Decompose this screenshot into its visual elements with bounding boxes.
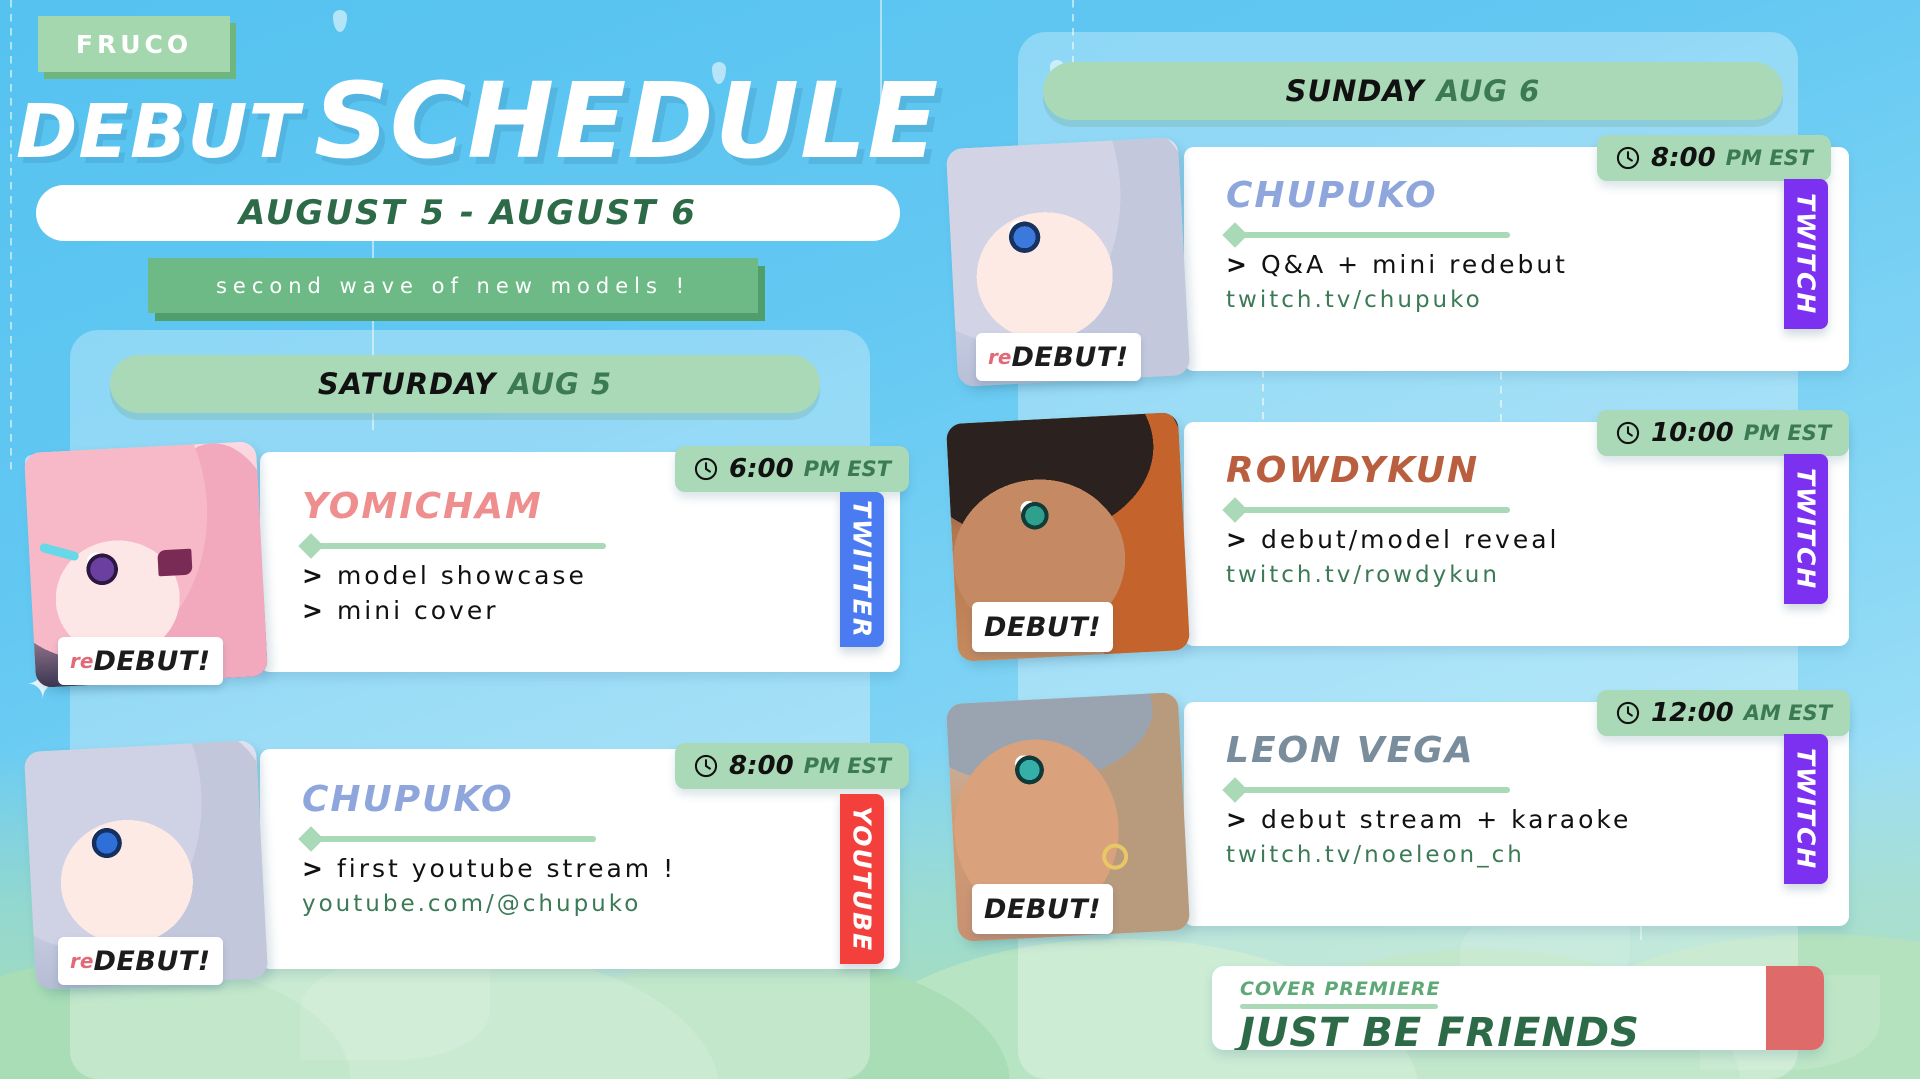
debut-badge: re DEBUT!: [58, 937, 223, 985]
time-badge: 8:00 PM EST: [1597, 135, 1831, 181]
subtitle-banner: second wave of new models !: [148, 258, 758, 313]
platform-label: TWITTER: [848, 500, 877, 639]
stream-link[interactable]: twitch.tv/chupuko: [1226, 287, 1849, 313]
stream-link[interactable]: youtube.com/@chupuko: [302, 891, 900, 917]
divider-bar: [316, 543, 606, 549]
time-value: 6:00: [729, 454, 794, 484]
date-range-pill: AUGUST 5 - AUGUST 6: [36, 185, 900, 241]
platform-tab-youtube[interactable]: YOUTUBE: [840, 794, 884, 964]
day-header-sunday: SUNDAY AUG 6: [1043, 62, 1783, 120]
schedule-poster: ✦ ✦ ✦ FRUCO DEBUT SCHEDULE AUGUST 5 - AU…: [0, 0, 1920, 1079]
name-divider: [302, 537, 622, 555]
subtitle-label: second wave of new models !: [216, 274, 690, 298]
clock-icon: [1615, 145, 1641, 171]
brand-name: FRUCO: [76, 30, 192, 59]
schedule-card-leon-vega[interactable]: LEON VEGA > debut stream + karaoke twitc…: [952, 702, 1832, 932]
debut-badge-prefix: re: [70, 649, 93, 673]
cover-premiere-kicker: COVER PREMIERE: [1240, 978, 1440, 1000]
bullet-item: > first youtube stream !: [302, 854, 900, 883]
platform-label: YOUTUBE: [848, 806, 877, 952]
debut-badge: DEBUT!: [972, 884, 1113, 934]
debut-badge-label: DEBUT!: [93, 946, 210, 977]
bullet-item: > Q&A + mini redebut: [1226, 250, 1849, 279]
debut-badge-prefix: re: [988, 345, 1011, 369]
cover-accent-bar: [1766, 966, 1824, 1050]
platform-label: TWITCH: [1792, 748, 1821, 870]
bullet-text: first youtube stream !: [337, 854, 676, 883]
time-suffix: PM EST: [804, 754, 891, 778]
bullet-text: model showcase: [337, 561, 587, 590]
divider-bar: [1240, 787, 1510, 793]
chevron-right-icon: >: [302, 598, 323, 623]
time-value: 8:00: [1651, 143, 1716, 173]
time-suffix: PM EST: [1726, 146, 1813, 170]
debut-badge-label: DEBUT!: [1011, 342, 1128, 373]
title-debut: DEBUT: [16, 89, 300, 175]
creator-name: ROWDYKUN: [1226, 450, 1849, 491]
debut-badge: re DEBUT!: [976, 333, 1141, 381]
clock-icon: [1615, 700, 1641, 726]
day-header-saturday: SATURDAY AUG 5: [110, 355, 820, 413]
title-schedule: SCHEDULE: [314, 60, 939, 182]
bullet-text: mini cover: [337, 596, 499, 625]
cover-underline: [1240, 1004, 1438, 1009]
time-suffix: PM EST: [804, 457, 891, 481]
chevron-right-icon: >: [302, 856, 323, 881]
date-range-label: AUGUST 5 - AUGUST 6: [239, 193, 697, 233]
time-badge: 10:00 PM EST: [1597, 410, 1849, 456]
time-badge: 8:00 PM EST: [675, 743, 909, 789]
platform-tab-twitch[interactable]: TWITCH: [1784, 454, 1828, 604]
cover-premiere-banner[interactable]: COVER PREMIERE JUST BE FRIENDS: [1212, 966, 1824, 1050]
debut-badge: re DEBUT!: [58, 637, 223, 685]
schedule-card-chupuko-sun[interactable]: CHUPUKO > Q&A + mini redebut twitch.tv/c…: [952, 147, 1832, 377]
day-date-saturday: AUG 5: [508, 367, 612, 401]
debut-badge: DEBUT!: [972, 602, 1113, 652]
time-badge: 6:00 PM EST: [675, 446, 909, 492]
time-suffix: AM EST: [1744, 701, 1832, 725]
time-suffix: PM EST: [1744, 421, 1831, 445]
time-badge: 12:00 AM EST: [1597, 690, 1850, 736]
platform-label: TWITCH: [1792, 193, 1821, 315]
platform-tab-twitch[interactable]: TWITCH: [1784, 734, 1828, 884]
bullet-item: > model showcase: [302, 561, 900, 590]
time-value: 8:00: [729, 751, 794, 781]
debut-badge-label: DEBUT!: [984, 894, 1101, 925]
platform-tab-twitter[interactable]: TWITTER: [840, 492, 884, 647]
chevron-right-icon: >: [1226, 252, 1247, 277]
name-divider: [302, 830, 612, 848]
chevron-right-icon: >: [1226, 527, 1247, 552]
clock-icon: [1615, 420, 1641, 446]
dotted-guide-line: [10, 0, 12, 470]
platform-label: TWITCH: [1792, 468, 1821, 590]
creator-name: YOMICHAM: [302, 486, 900, 527]
time-value: 12:00: [1651, 698, 1734, 728]
divider-bar: [1240, 232, 1510, 238]
name-divider: [1226, 781, 1526, 799]
stream-link[interactable]: twitch.tv/rowdykun: [1226, 562, 1849, 588]
day-name-saturday: SATURDAY: [318, 367, 496, 401]
clock-icon: [693, 753, 719, 779]
day-date-sunday: AUG 6: [1437, 74, 1541, 108]
divider-bar: [316, 836, 596, 842]
name-divider: [1226, 501, 1526, 519]
bullet-item: > debut/model reveal: [1226, 525, 1849, 554]
schedule-card-yomicham[interactable]: YOMICHAM > model showcase > mini cover: [30, 452, 880, 682]
debut-badge-label: DEBUT!: [93, 646, 210, 677]
bullet-item: > debut stream + karaoke: [1226, 805, 1849, 834]
bullet-item: > mini cover: [302, 596, 900, 625]
stream-link[interactable]: twitch.tv/noeleon_ch: [1226, 842, 1849, 868]
cover-song-title: JUST BE FRIENDS: [1240, 1010, 1640, 1050]
creator-name: CHUPUKO: [1226, 175, 1849, 216]
platform-tab-twitch[interactable]: TWITCH: [1784, 179, 1828, 329]
debut-badge-prefix: re: [70, 949, 93, 973]
bullet-text: debut stream + karaoke: [1261, 805, 1631, 834]
page-title: DEBUT SCHEDULE: [16, 60, 939, 182]
divider-bar: [1240, 507, 1510, 513]
water-drop-icon: [333, 10, 347, 32]
hair-bow-icon: [157, 549, 192, 577]
schedule-card-chupuko-sat[interactable]: CHUPUKO > first youtube stream ! youtube…: [30, 749, 880, 979]
clock-icon: [693, 456, 719, 482]
time-value: 10:00: [1651, 418, 1734, 448]
chevron-right-icon: >: [302, 563, 323, 588]
schedule-card-rowdykun[interactable]: ROWDYKUN > debut/model reveal twitch.tv/…: [952, 422, 1832, 652]
day-name-sunday: SUNDAY: [1286, 74, 1425, 108]
name-divider: [1226, 226, 1526, 244]
bullet-text: Q&A + mini redebut: [1261, 250, 1568, 279]
debut-badge-label: DEBUT!: [984, 612, 1101, 643]
chevron-right-icon: >: [1226, 807, 1247, 832]
bullet-text: debut/model reveal: [1261, 525, 1560, 554]
creator-name: LEON VEGA: [1226, 730, 1849, 771]
